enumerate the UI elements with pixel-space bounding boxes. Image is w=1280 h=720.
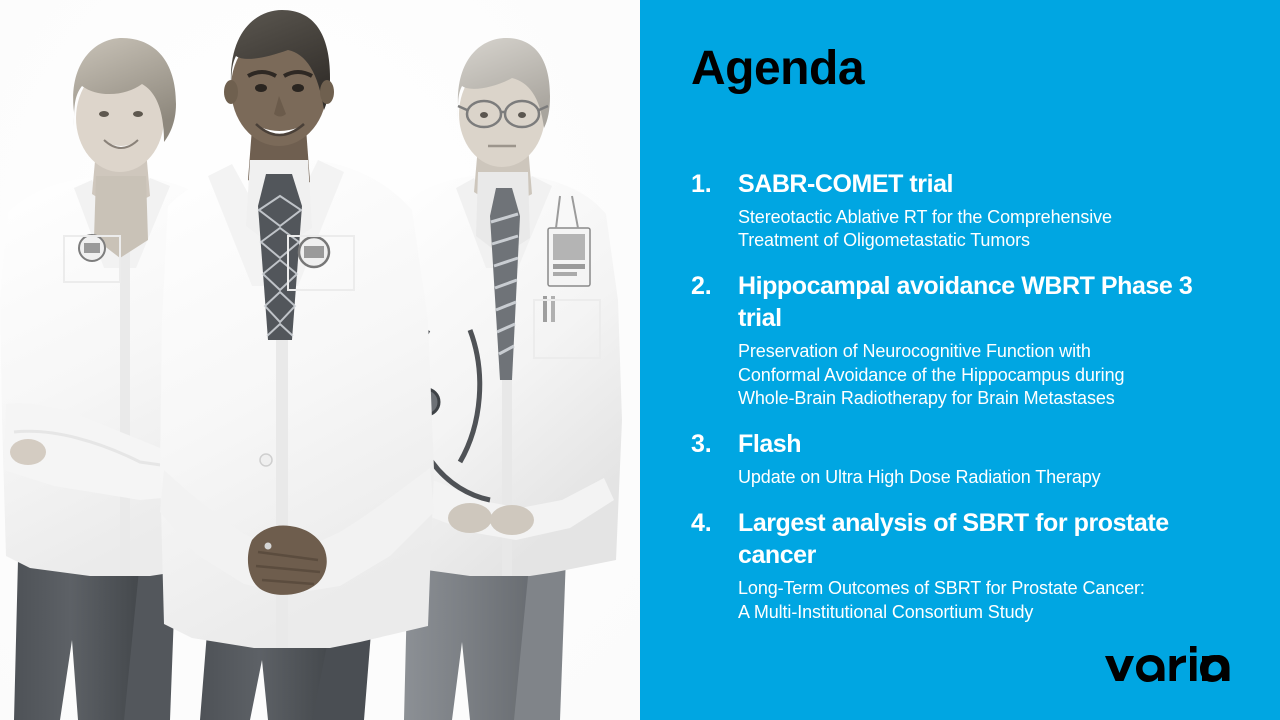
agenda-item-number: 2. bbox=[691, 270, 738, 302]
agenda-item-number: 3. bbox=[691, 428, 738, 460]
agenda-item-title: Flash bbox=[738, 428, 1211, 460]
agenda-item-number: 4. bbox=[691, 507, 738, 539]
agenda-list: 1. SABR-COMET trial Stereotactic Ablativ… bbox=[691, 168, 1211, 624]
agenda-panel: Agenda 1. SABR-COMET trial Stereotactic … bbox=[640, 0, 1280, 720]
presentation-slide: Agenda 1. SABR-COMET trial Stereotactic … bbox=[0, 0, 1280, 720]
agenda-item-1[interactable]: 1. SABR-COMET trial Stereotactic Ablativ… bbox=[691, 168, 1211, 252]
doctors-photo bbox=[0, 0, 640, 720]
agenda-item-title: SABR-COMET trial bbox=[738, 168, 1211, 200]
agenda-item-subtitle: Preservation of Neurocognitive Function … bbox=[738, 340, 1211, 410]
agenda-item-subtitle: Long-Term Outcomes of SBRT for Prostate … bbox=[738, 577, 1211, 623]
agenda-item-title: Largest analysis of SBRT for prostate ca… bbox=[738, 507, 1211, 571]
agenda-item-number: 1. bbox=[691, 168, 738, 200]
agenda-item-2[interactable]: 2. Hippocampal avoidance WBRT Phase 3 tr… bbox=[691, 270, 1211, 410]
page-title: Agenda bbox=[691, 44, 864, 94]
agenda-item-subtitle: Stereotactic Ablative RT for the Compreh… bbox=[738, 206, 1211, 252]
agenda-item-3[interactable]: 3. Flash Update on Ultra High Dose Radia… bbox=[691, 428, 1211, 489]
agenda-item-title: Hippocampal avoidance WBRT Phase 3 trial bbox=[738, 270, 1211, 334]
agenda-item-4[interactable]: 4. Largest analysis of SBRT for prostate… bbox=[691, 507, 1211, 623]
agenda-item-subtitle: Update on Ultra High Dose Radiation Ther… bbox=[738, 466, 1211, 489]
varian-logo bbox=[1104, 646, 1230, 682]
